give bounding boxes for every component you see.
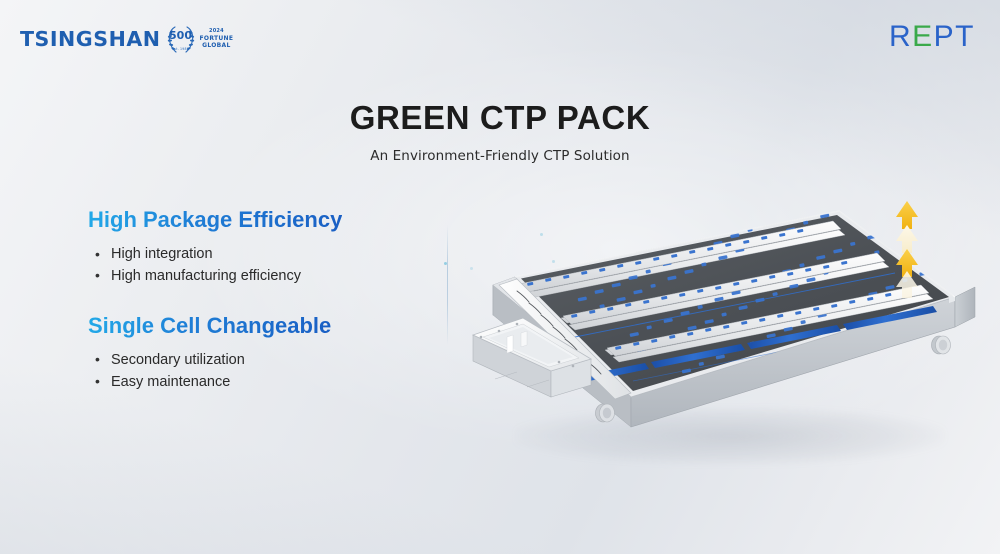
page-subtitle: An Environment-Friendly CTP Solution xyxy=(0,148,1000,164)
feature-list: High Package Efficiency High integration… xyxy=(88,208,418,393)
badge-subtext: Est. 1988 xyxy=(164,47,198,51)
tsingshan-logo: TSINGSHAN xyxy=(22,24,233,54)
feature-heading: High Package Efficiency xyxy=(88,208,342,232)
page-title: GREEN CTP PACK xyxy=(0,99,1000,137)
feature-heading: Single Cell Changeable xyxy=(88,314,331,338)
global-word: GLOBAL xyxy=(200,42,234,49)
laurel-wreath-icon: 500 Est. 1988 xyxy=(164,24,198,54)
background-particle xyxy=(444,262,447,265)
battery-pack-illustration xyxy=(455,185,995,475)
background-guide-line xyxy=(447,225,448,345)
rept-logo: REPT xyxy=(889,22,975,52)
upward-airflow-arrows xyxy=(887,199,927,295)
bullet-item: High manufacturing efficiency xyxy=(95,266,418,288)
arrow-up-icon xyxy=(896,271,918,298)
slide-root: TSINGSHAN xyxy=(0,0,1000,554)
fortune-global-text: 2024 FORTUNE GLOBAL xyxy=(200,29,234,49)
feature-bullets: Secondary utilization Easy maintenance xyxy=(88,350,418,394)
arrow-up-icon xyxy=(896,225,918,253)
bullet-item: Secondary utilization xyxy=(95,350,418,372)
tsingshan-wordmark: TSINGSHAN xyxy=(20,29,161,49)
feature-block-single-cell-changeable: Single Cell Changeable Secondary utiliza… xyxy=(88,314,418,394)
rept-logo-e: E xyxy=(912,20,934,53)
bullet-item: Easy maintenance xyxy=(95,372,418,394)
feature-block-package-efficiency: High Package Efficiency High integration… xyxy=(88,208,418,288)
fortune-global-500-badge: 500 Est. 1988 2024 FORTUNE GLOBAL xyxy=(164,24,234,54)
rept-logo-r: R xyxy=(889,20,912,53)
badge-number: 500 xyxy=(164,30,198,41)
fortune-word: FORTUNE xyxy=(200,35,234,42)
rept-logo-pt: PT xyxy=(934,20,975,53)
bullet-item: High integration xyxy=(95,244,418,266)
feature-bullets: High integration High manufacturing effi… xyxy=(88,244,418,288)
arrow-up-icon xyxy=(896,201,918,229)
